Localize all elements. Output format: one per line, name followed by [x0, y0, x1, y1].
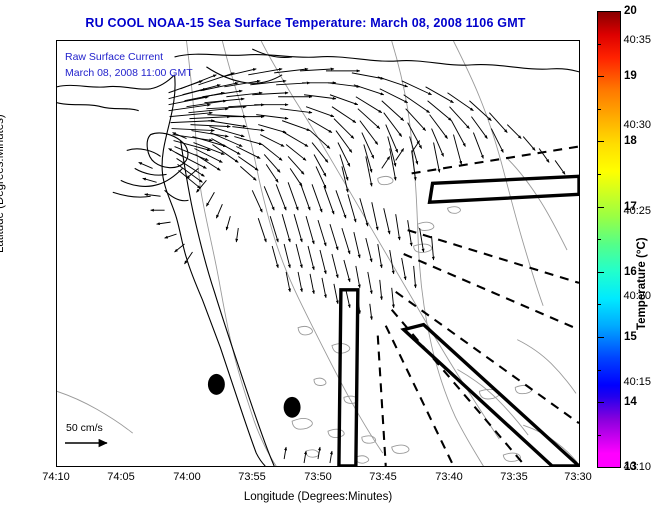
- cbar-label-16: 16: [624, 266, 637, 278]
- figure-root: RU COOL NOAA-15 Sea Surface Temperature:…: [0, 0, 651, 518]
- bathymetry-contours: [57, 41, 577, 466]
- cbar-label-13: 13: [624, 461, 637, 473]
- figure-title: RU COOL NOAA-15 Sea Surface Temperature:…: [0, 16, 611, 30]
- xtick-73-45: 73:45: [369, 471, 397, 483]
- x-axis-label: Longitude (Degrees:Minutes): [56, 491, 580, 503]
- map-canvas: [57, 41, 579, 466]
- xtick-73-50: 73:50: [304, 471, 332, 483]
- velocity-scale-legend: 50 cm/s: [63, 422, 117, 452]
- colorbar-title: Temperature (°C): [636, 237, 648, 330]
- coastline: [57, 49, 579, 466]
- cbar-label-17: 17: [624, 201, 637, 213]
- xtick-73-30: 73:30: [564, 471, 592, 483]
- xtick-74-10: 74:10: [42, 471, 70, 483]
- xtick-74-05: 74:05: [107, 471, 135, 483]
- cbar-label-19: 19: [624, 70, 637, 82]
- xtick-74-00: 74:00: [173, 471, 201, 483]
- cbar-label-18: 18: [624, 135, 637, 147]
- map-plot-area[interactable]: Raw Surface Current March 08, 2008 11:00…: [56, 40, 580, 467]
- xtick-73-35: 73:35: [500, 471, 528, 483]
- velocity-scale-label: 50 cm/s: [66, 422, 117, 434]
- cbar-label-14: 14: [624, 396, 637, 408]
- right-arrow-icon: [63, 437, 117, 449]
- y-axis-label: Latitude (Degrees:Minutes): [0, 114, 6, 253]
- xtick-73-40: 73:40: [435, 471, 463, 483]
- station-marker: [208, 374, 225, 395]
- current-annotation-timestamp: March 08, 2008 11:00 GMT: [65, 67, 193, 79]
- cbar-label-15: 15: [624, 331, 637, 343]
- shipping-lanes: [339, 176, 579, 466]
- station-marker: [284, 397, 301, 418]
- cbar-label-20: 20: [624, 5, 637, 17]
- current-annotation-title: Raw Surface Current: [65, 51, 163, 63]
- xtick-73-55: 73:55: [238, 471, 266, 483]
- surface-current-vectors: [139, 69, 565, 463]
